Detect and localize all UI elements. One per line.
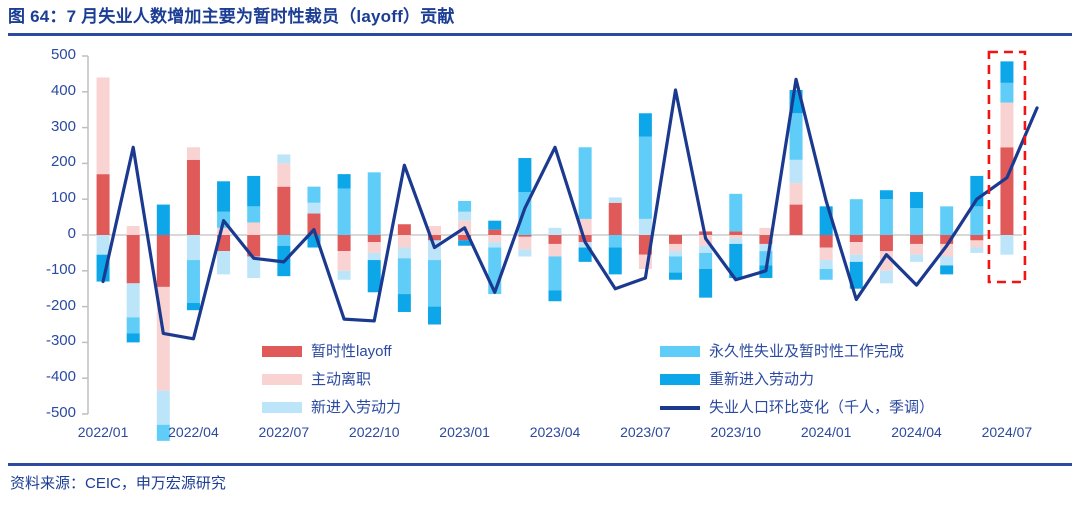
bar-segment-layoff	[97, 174, 110, 235]
x-axis-label: 2023/04	[510, 424, 600, 440]
bar-segment-layoff	[338, 235, 351, 251]
bar-segment-quit	[247, 222, 260, 235]
bar-segment-permanent	[699, 253, 712, 269]
bar-segment-new_entrant	[639, 219, 652, 235]
legend-item-new_entrant[interactable]: 新进入劳动力	[262, 399, 401, 416]
legend-item-total_line[interactable]: 失业人口环比变化（千人，季调）	[660, 399, 934, 416]
bar-segment-quit	[910, 244, 923, 255]
bar-segment-reentrant	[127, 333, 140, 342]
x-axis-label: 2023/07	[600, 424, 690, 440]
x-axis-label: 2023/01	[420, 424, 510, 440]
bar-segment-new_entrant	[609, 197, 622, 202]
bar-segment-new_entrant	[277, 154, 290, 163]
bar-segment-quit	[518, 237, 531, 250]
bar-segment-reentrant	[488, 221, 501, 230]
bar-segment-layoff	[398, 224, 411, 235]
legend-swatch-icon-layoff	[262, 346, 302, 357]
bar-segment-layoff	[157, 235, 170, 287]
bar-segment-permanent	[1000, 83, 1013, 103]
bar-segment-permanent	[910, 208, 923, 235]
bar-segment-permanent	[790, 113, 803, 160]
bar-segment-permanent	[669, 256, 682, 272]
bar-segment-layoff	[970, 235, 983, 240]
legend-swatch-icon-reentrant	[660, 374, 700, 385]
bar-segment-new_entrant	[217, 251, 230, 274]
bar-segment-reentrant	[217, 181, 230, 211]
bar-segment-new_entrant	[850, 255, 863, 262]
legend-label: 失业人口环比变化（千人，季调）	[709, 399, 934, 416]
bar-stack	[609, 197, 622, 274]
bar-segment-reentrant	[338, 174, 351, 188]
bar-segment-new_entrant	[368, 253, 381, 260]
bar-stack	[850, 199, 863, 289]
bar-segment-new_entrant	[820, 260, 833, 269]
bar-stack	[729, 194, 742, 278]
y-axis-label: 500	[14, 48, 76, 62]
bar-segment-new_entrant	[338, 271, 351, 280]
bar-stack	[187, 147, 200, 310]
bar-segment-new_entrant	[729, 239, 742, 244]
y-axis-label: -400	[14, 370, 76, 384]
bar-segment-permanent	[880, 199, 893, 235]
bar-segment-quit	[970, 240, 983, 247]
bar-segment-permanent	[247, 206, 260, 222]
bar-segment-reentrant	[247, 176, 260, 206]
bar-segment-quit	[127, 226, 140, 235]
bar-stack	[1000, 61, 1013, 254]
bar-segment-new_entrant	[97, 235, 110, 255]
bar-stack	[247, 176, 260, 278]
legend-label: 主动离职	[311, 371, 371, 388]
bar-segment-layoff	[187, 160, 200, 235]
x-axis-label: 2024/01	[781, 424, 871, 440]
bar-segment-new_entrant	[458, 212, 471, 221]
bar-segment-layoff	[609, 203, 622, 235]
bar-segment-reentrant	[549, 290, 562, 301]
bar-segment-layoff	[127, 235, 140, 283]
x-axis-label: 2022/01	[58, 424, 148, 440]
x-axis-label: 2023/10	[691, 424, 781, 440]
bar-segment-new_entrant	[940, 256, 953, 265]
bar-stack	[669, 235, 682, 280]
legend-item-reentrant[interactable]: 重新进入劳动力	[660, 371, 814, 388]
bar-stack	[699, 231, 712, 297]
bar-segment-quit	[790, 183, 803, 204]
y-axis-label: 100	[14, 191, 76, 205]
bar-segment-quit	[850, 242, 863, 255]
bar-segment-new_entrant	[518, 249, 531, 256]
bar-segment-layoff	[820, 235, 833, 248]
x-axis-label: 2024/07	[962, 424, 1052, 440]
chart-plot-area: 5004003002001000-100-200-300-400-500 202…	[0, 0, 1080, 460]
bar-segment-reentrant	[880, 190, 893, 199]
y-axis-label: 0	[14, 227, 76, 241]
bar-segment-permanent	[428, 260, 441, 307]
footer-divider	[8, 463, 1072, 466]
x-axis-label: 2024/04	[872, 424, 962, 440]
bar-segment-layoff	[850, 235, 863, 242]
total-change-line	[103, 79, 1037, 339]
x-axis-label: 2022/10	[329, 424, 419, 440]
bar-segment-permanent	[307, 187, 320, 203]
bar-segment-reentrant	[518, 158, 531, 192]
bar-segment-permanent	[187, 260, 200, 303]
bar-segment-reentrant	[428, 307, 441, 325]
source-note: 资料来源：CEIC，申万宏源研究	[10, 472, 226, 493]
bar-series-group	[97, 61, 1014, 440]
bar-segment-new_entrant	[398, 248, 411, 259]
bar-stack	[910, 192, 923, 262]
bar-segment-quit	[338, 251, 351, 271]
bar-segment-quit	[549, 244, 562, 257]
bar-segment-layoff	[488, 230, 501, 235]
bar-segment-layoff	[910, 235, 923, 244]
bar-segment-quit	[398, 235, 411, 248]
bar-segment-layoff	[790, 205, 803, 235]
bar-segment-permanent	[488, 248, 501, 295]
legend-label: 永久性失业及暂时性工作完成	[709, 343, 904, 360]
bar-stack	[127, 226, 140, 342]
bar-segment-quit	[669, 244, 682, 251]
bar-segment-reentrant	[187, 303, 200, 310]
bar-segment-quit	[277, 163, 290, 186]
bar-segment-permanent	[127, 317, 140, 333]
y-axis-label: 200	[14, 155, 76, 169]
bar-segment-layoff	[277, 187, 290, 235]
bar-stack	[880, 190, 893, 283]
bar-segment-reentrant	[910, 192, 923, 208]
bar-stack	[338, 174, 351, 280]
bar-segment-permanent	[458, 201, 471, 212]
bar-segment-reentrant	[699, 269, 712, 298]
legend-label: 重新进入劳动力	[709, 371, 814, 388]
bar-stack	[549, 228, 562, 301]
bar-segment-quit	[488, 235, 501, 242]
legend-swatch-icon-permanent	[660, 346, 700, 357]
y-axis-label: -100	[14, 263, 76, 277]
bar-stack	[97, 77, 110, 281]
bar-stack	[157, 205, 170, 441]
bar-segment-permanent	[398, 258, 411, 294]
bar-segment-new_entrant	[790, 160, 803, 183]
bar-segment-reentrant	[368, 260, 381, 292]
legend-label: 新进入劳动力	[311, 399, 401, 416]
bar-segment-new_entrant	[970, 248, 983, 253]
bar-segment-new_entrant	[549, 228, 562, 235]
bar-segment-new_entrant	[880, 271, 893, 284]
bar-stack	[970, 176, 983, 253]
bar-segment-permanent	[729, 194, 742, 232]
legend-swatch-icon-new_entrant	[262, 402, 302, 413]
chart-canvas	[0, 0, 1080, 460]
bar-segment-new_entrant	[187, 235, 200, 260]
bar-segment-layoff	[729, 231, 742, 235]
bar-segment-new_entrant	[157, 391, 170, 425]
bar-segment-new_entrant	[910, 255, 923, 262]
bar-segment-new_entrant	[307, 203, 320, 214]
bar-segment-reentrant	[669, 273, 682, 280]
bar-segment-new_entrant	[1000, 235, 1013, 255]
bar-stack	[428, 226, 441, 324]
bar-segment-permanent	[970, 206, 983, 235]
bar-segment-reentrant	[609, 248, 622, 275]
bar-segment-layoff	[880, 235, 893, 251]
bar-segment-permanent	[277, 235, 290, 246]
legend-item-layoff[interactable]: 暂时性layoff	[262, 343, 392, 360]
bar-segment-layoff	[1000, 147, 1013, 235]
bar-segment-quit	[368, 242, 381, 253]
bar-segment-permanent	[368, 172, 381, 235]
bar-segment-reentrant	[940, 265, 953, 274]
bar-segment-permanent	[639, 137, 652, 219]
bar-segment-permanent	[338, 188, 351, 235]
bar-segment-reentrant	[398, 294, 411, 312]
bar-segment-quit	[97, 77, 110, 174]
bar-segment-new_entrant	[669, 251, 682, 256]
bar-segment-new_entrant	[488, 242, 501, 247]
x-axis-label: 2022/07	[239, 424, 329, 440]
y-axis-label: 400	[14, 84, 76, 98]
bar-segment-quit	[729, 235, 742, 239]
bar-segment-permanent	[850, 199, 863, 235]
y-axis-label: -200	[14, 299, 76, 313]
bar-segment-permanent	[609, 235, 622, 248]
bar-segment-reentrant	[639, 113, 652, 136]
y-axis-label: -500	[14, 406, 76, 420]
y-axis-label: 300	[14, 120, 76, 134]
bar-segment-layoff	[549, 235, 562, 244]
bar-stack	[398, 224, 411, 312]
bar-stack	[368, 172, 381, 292]
x-axis-label: 2022/04	[148, 424, 238, 440]
bar-segment-new_entrant	[127, 283, 140, 317]
legend-swatch-icon-quit	[262, 374, 302, 385]
bar-segment-quit	[1000, 103, 1013, 148]
bar-segment-permanent	[940, 206, 953, 235]
legend-line-icon-total_line	[660, 406, 700, 410]
bar-segment-layoff	[669, 235, 682, 244]
bar-segment-reentrant	[157, 205, 170, 235]
bar-segment-quit	[187, 147, 200, 160]
legend-item-permanent[interactable]: 永久性失业及暂时性工作完成	[660, 343, 904, 360]
bar-segment-reentrant	[1000, 61, 1013, 82]
y-axis-label: -300	[14, 334, 76, 348]
bar-segment-permanent	[549, 256, 562, 290]
legend-item-quit[interactable]: 主动离职	[262, 371, 371, 388]
bar-segment-layoff	[368, 235, 381, 242]
bar-segment-permanent	[579, 147, 592, 219]
bar-segment-quit	[820, 248, 833, 261]
bar-segment-layoff	[518, 235, 531, 237]
legend-label: 暂时性layoff	[311, 343, 392, 360]
bar-segment-permanent	[820, 269, 833, 280]
